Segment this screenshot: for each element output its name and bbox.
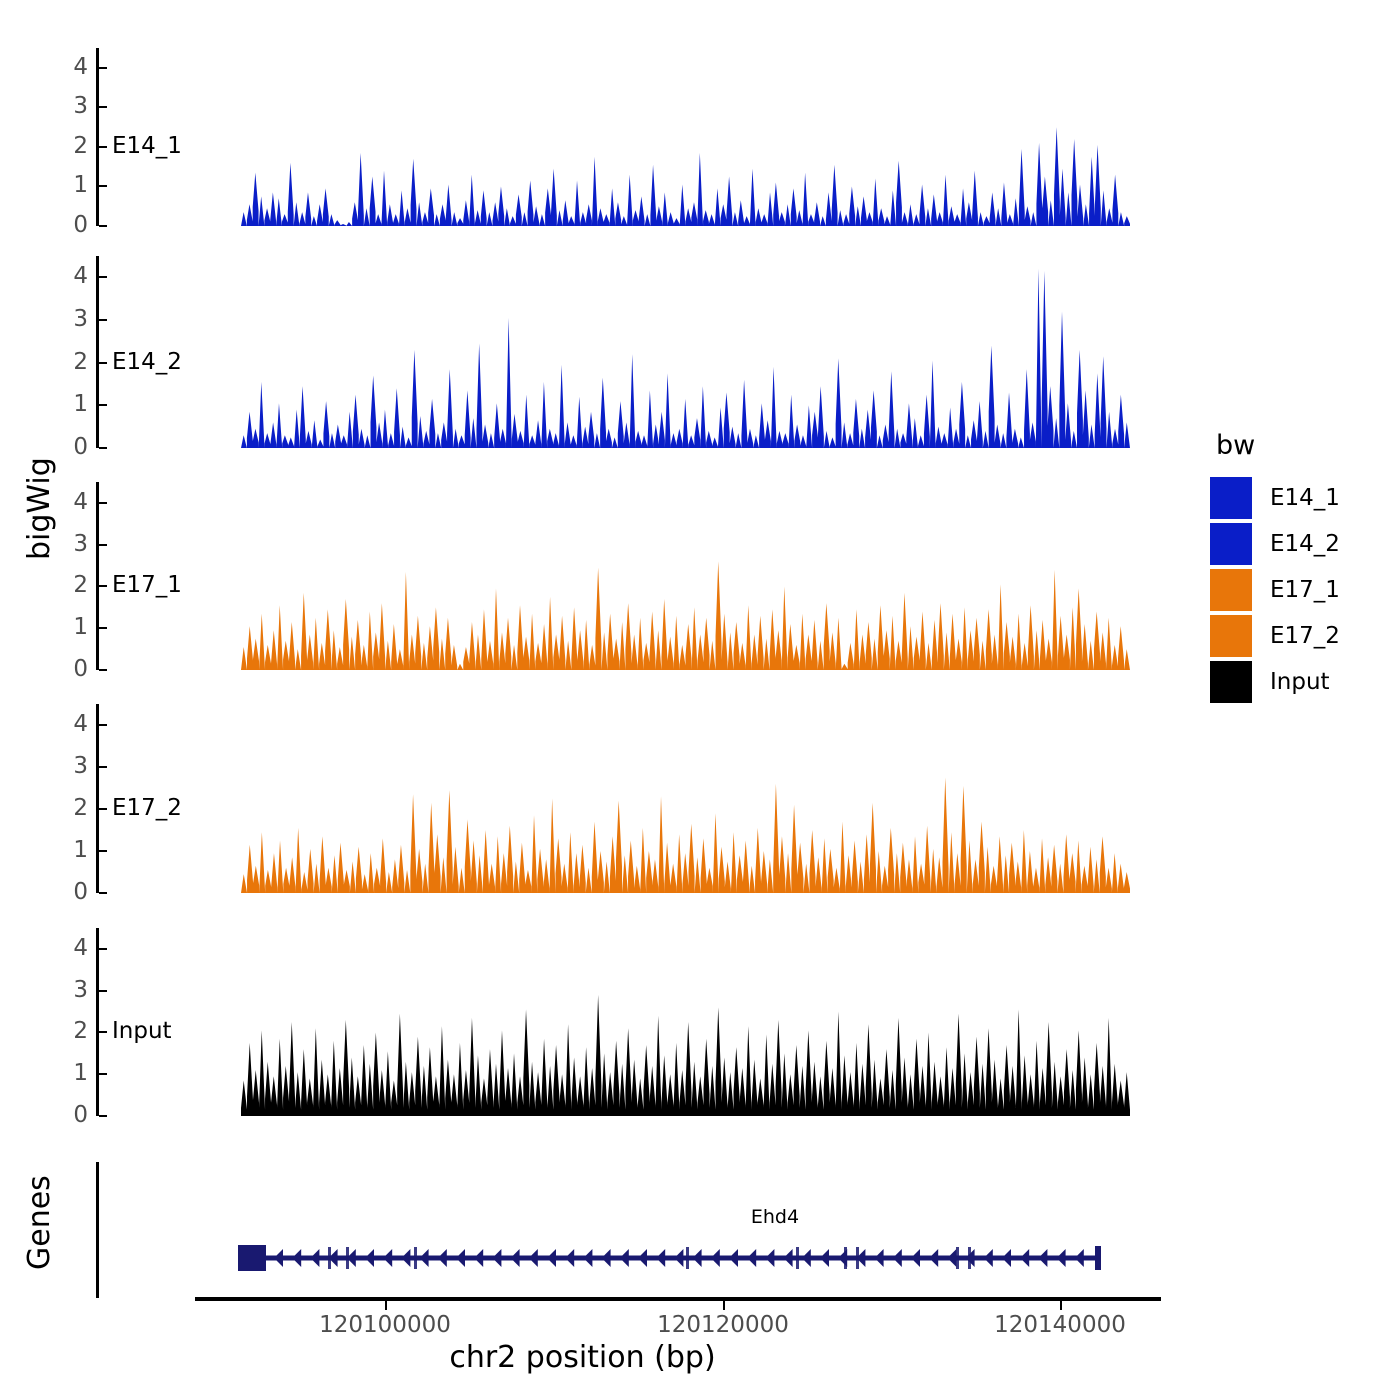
legend-entry-e14_1[interactable]: E14_1 [1210, 475, 1340, 521]
y-tick-label: 1 [42, 393, 88, 416]
legend-color-swatch [1210, 569, 1252, 611]
gene-strand-arrow [1057, 1249, 1066, 1267]
gene-strand-arrow [802, 1249, 811, 1267]
gene-end-cap [1095, 1246, 1101, 1270]
y-tick-label: 0 [42, 881, 88, 904]
gene-exon-tick [686, 1247, 689, 1269]
legend-entry-label: Input [1270, 669, 1330, 695]
gene-strand-arrow [602, 1249, 611, 1267]
legend-entries: E14_1E14_2E17_1E17_2Input [1210, 475, 1340, 705]
gene-strand-arrow [274, 1249, 283, 1267]
genes-axis-line [96, 1162, 99, 1298]
gene-strand-arrow [711, 1249, 720, 1267]
gene-strand-arrow [693, 1249, 702, 1267]
track-panel-e14_1: 01234E14_1 [96, 48, 1136, 226]
legend-entry-e17_1[interactable]: E17_1 [1210, 567, 1340, 613]
coverage-area [241, 269, 1130, 448]
y-tick-label: 4 [42, 713, 88, 736]
figure-root: bigWig Genes chr2 position (bp) 01234E14… [0, 0, 1400, 1400]
y-tick-label: 1 [42, 616, 88, 639]
legend-entry-label: E17_1 [1270, 577, 1340, 603]
genes-panel: Ehd4 [96, 1162, 1136, 1298]
gene-strand-arrow [674, 1249, 683, 1267]
x-axis-label: chr2 position (bp) [0, 1340, 1165, 1375]
gene-strand-arrow [638, 1249, 647, 1267]
gene-strand-arrow [1038, 1249, 1047, 1267]
gene-strand-arrow [310, 1249, 319, 1267]
gene-strand-arrow [474, 1249, 483, 1267]
legend-entry-label: E14_1 [1270, 485, 1340, 511]
gene-strand-arrow [947, 1249, 956, 1267]
track-plot-area[interactable] [99, 704, 1136, 893]
legend-color-swatch [1210, 661, 1252, 703]
y-tick-label: 0 [42, 214, 88, 237]
gene-exon-tick [414, 1247, 417, 1269]
gene-strand-arrow [1075, 1249, 1084, 1267]
gene-strand-arrow [401, 1249, 410, 1267]
track-plot-area[interactable] [99, 928, 1136, 1116]
gene-strand-arrow [511, 1249, 520, 1267]
legend-entry-label: E14_2 [1270, 531, 1340, 557]
gene-strand-arrow [620, 1249, 629, 1267]
gene-strand-arrow [583, 1249, 592, 1267]
gene-strand-arrow [784, 1249, 793, 1267]
y-tick-label: 4 [42, 56, 88, 79]
y-tick-label: 2 [42, 135, 88, 158]
gene-strand-arrow [420, 1249, 429, 1267]
track-plot-area[interactable] [99, 482, 1136, 670]
gene-strand-arrow [1002, 1249, 1011, 1267]
x-tick [1060, 1301, 1062, 1310]
y-tick-label: 1 [42, 174, 88, 197]
coverage-area [241, 127, 1130, 226]
track-panel-e14_2: 01234E14_2 [96, 256, 1136, 448]
y-tick-label: 3 [42, 755, 88, 778]
gene-strand-arrow [729, 1249, 738, 1267]
y-tick-label: 1 [42, 839, 88, 862]
gene-strand-arrow [765, 1249, 774, 1267]
gene-exon-tick [956, 1247, 959, 1269]
track-panel-input: 01234Input [96, 928, 1136, 1116]
gene-strand-arrow [911, 1249, 920, 1267]
y-tick-label: 2 [42, 574, 88, 597]
legend: bw E14_1E14_2E17_1E17_2Input [1210, 430, 1340, 705]
legend-entry-e17_2[interactable]: E17_2 [1210, 613, 1340, 659]
y-tick-label: 4 [42, 937, 88, 960]
gene-strand-arrow [292, 1249, 301, 1267]
y-tick-label: 4 [42, 491, 88, 514]
gene-strand-arrow [547, 1249, 556, 1267]
gene-model[interactable] [96, 1162, 1136, 1298]
legend-color-swatch [1210, 523, 1252, 565]
gene-strand-arrow [929, 1249, 938, 1267]
gene-strand-arrow [838, 1249, 847, 1267]
y-tick-label: 4 [42, 265, 88, 288]
x-tick [723, 1301, 725, 1310]
gene-exon-tick [796, 1247, 799, 1269]
gene-strand-arrow [984, 1249, 993, 1267]
gene-strand-arrow [492, 1249, 501, 1267]
gene-strand-arrow [438, 1249, 447, 1267]
x-tick-label: 120120000 [623, 1312, 823, 1338]
y-tick-label: 0 [42, 436, 88, 459]
y-tick-label: 3 [42, 308, 88, 331]
gene-strand-arrow [747, 1249, 756, 1267]
gene-strand-arrow [1020, 1249, 1029, 1267]
legend-color-swatch [1210, 477, 1252, 519]
gene-strand-arrow [529, 1249, 538, 1267]
gene-strand-arrow [893, 1249, 902, 1267]
y-tick-label: 3 [42, 95, 88, 118]
legend-entry-input[interactable]: Input [1210, 659, 1340, 705]
gene-exon-block [238, 1245, 266, 1271]
coverage-area [241, 561, 1130, 670]
legend-entry-e14_2[interactable]: E14_2 [1210, 521, 1340, 567]
y-tick-label: 2 [42, 1020, 88, 1043]
y-tick-label: 3 [42, 533, 88, 556]
track-plot-area[interactable] [99, 48, 1136, 226]
gene-strand-arrow [820, 1249, 829, 1267]
gene-strand-arrow [456, 1249, 465, 1267]
y-axis-label-genes: Genes [22, 1175, 57, 1270]
y-tick-label: 3 [42, 979, 88, 1002]
legend-title: bw [1216, 430, 1340, 461]
y-tick-label: 0 [42, 658, 88, 681]
gene-strand-arrow [875, 1249, 884, 1267]
coverage-area [241, 778, 1130, 894]
gene-strand-arrow [383, 1249, 392, 1267]
x-tick-label: 120100000 [285, 1312, 485, 1338]
x-tick [385, 1301, 387, 1310]
coverage-area [241, 995, 1130, 1116]
legend-entry-label: E17_2 [1270, 623, 1340, 649]
y-tick-label: 1 [42, 1062, 88, 1085]
y-tick-label: 2 [42, 351, 88, 374]
x-tick-label: 120140000 [960, 1312, 1160, 1338]
y-tick-label: 2 [42, 797, 88, 820]
track-plot-area[interactable] [99, 256, 1136, 448]
gene-strand-arrow [565, 1249, 574, 1267]
track-panel-e17_2: 01234E17_2 [96, 704, 1136, 893]
gene-strand-arrow [656, 1249, 665, 1267]
gene-strand-arrow [365, 1249, 374, 1267]
gene-name-label: Ehd4 [751, 1206, 799, 1228]
y-tick-label: 0 [42, 1104, 88, 1127]
legend-color-swatch [1210, 615, 1252, 657]
track-panel-e17_1: 01234E17_1 [96, 482, 1136, 670]
